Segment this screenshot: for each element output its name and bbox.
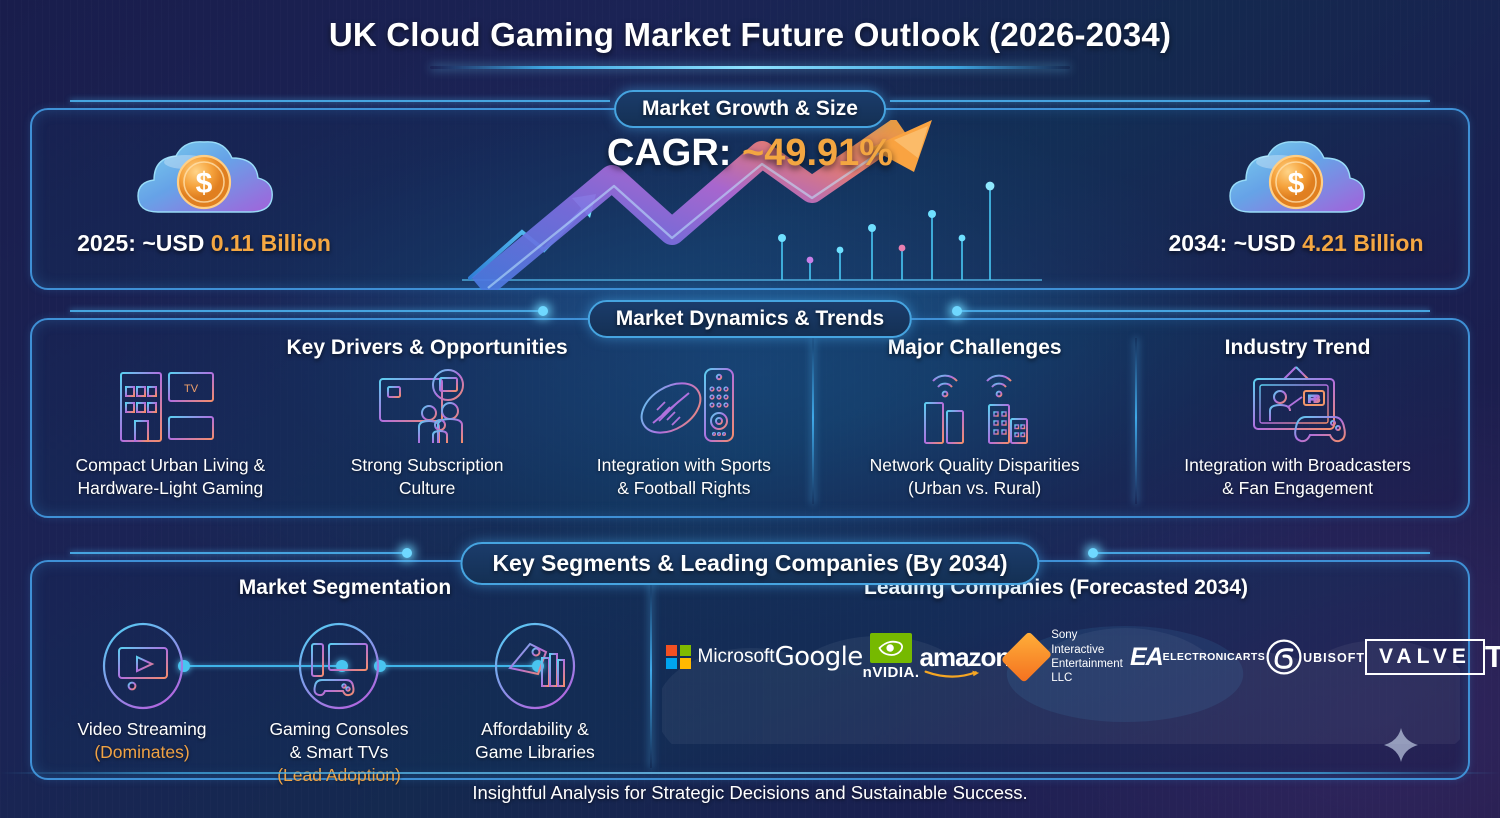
logo-text-line2: Interactive bbox=[1051, 644, 1104, 656]
label-line1: Compact Urban Living & bbox=[76, 455, 266, 475]
badge-connector-right bbox=[890, 100, 1430, 102]
trend-item-broadcasters: FB Integration with Broadcasters & Fan E… bbox=[1137, 334, 1458, 508]
year-2025-amount: 0.11 Billion bbox=[211, 230, 331, 256]
key-segments-badge: Key Segments & Leading Companies (By 203… bbox=[460, 542, 1039, 585]
microsoft-logo: Microsoft bbox=[666, 645, 775, 670]
nvidia-eye-icon bbox=[870, 633, 912, 663]
group-heading: Industry Trend bbox=[1137, 336, 1458, 360]
logo-text: Microsoft bbox=[698, 646, 775, 668]
sony-diamond-icon bbox=[1001, 631, 1053, 683]
badge-dot-left bbox=[402, 548, 412, 558]
title-underline bbox=[430, 66, 1070, 69]
market-size-2034-label: 2034: ~USD 4.21 Billion bbox=[1146, 230, 1446, 257]
cloud-dollar-icon: $ bbox=[1220, 132, 1372, 224]
market-growth-panel: Market Growth & Size $ bbox=[30, 108, 1470, 290]
market-size-2025-label: 2025: ~USD 0.11 Billion bbox=[54, 230, 354, 257]
building-tv-laptop-icon: TV bbox=[115, 363, 225, 448]
year-2034-prefix: 2034: ~USD bbox=[1168, 230, 1302, 256]
label-line1: Integration with Sports bbox=[597, 455, 771, 475]
badge-connector-left bbox=[70, 552, 410, 554]
ubisoft-swirl-icon bbox=[1265, 638, 1303, 676]
badge-connector-left bbox=[70, 310, 545, 312]
challenge-label: Network Quality Disparities (Urban vs. R… bbox=[870, 454, 1080, 500]
amazon-smile-icon bbox=[924, 670, 980, 679]
logo-text: EA bbox=[1130, 643, 1163, 672]
segment-node-video-streaming[interactable] bbox=[102, 622, 184, 710]
footer-divider bbox=[0, 772, 1500, 774]
cagr-value: ~49.91% bbox=[742, 132, 893, 174]
key-segments-panel: Key Segments & Leading Companies (By 203… bbox=[30, 560, 1470, 780]
svg-text:$: $ bbox=[196, 167, 213, 200]
market-size-2025: $ 2025: ~USD 0.11 Billion bbox=[54, 132, 354, 257]
year-2025-prefix: 2025: ~USD bbox=[77, 230, 211, 256]
segment-caption: Affordability & Game Libraries bbox=[390, 718, 680, 764]
cloud-dollar-icon: $ bbox=[128, 132, 280, 224]
badge-connector-right bbox=[1090, 552, 1430, 554]
console-smarttv-icon bbox=[312, 644, 367, 695]
market-size-2034: $ 2034: ~USD 4.21 Billion bbox=[1146, 132, 1446, 257]
dynamics-group-key-drivers: Key Drivers & Opportunities bbox=[42, 334, 812, 508]
svg-text:TV: TV bbox=[184, 383, 199, 395]
amazon-logo: amazon bbox=[920, 642, 1011, 673]
market-growth-badge: Market Growth & Size bbox=[614, 90, 886, 128]
segment-node-affordability[interactable] bbox=[494, 622, 576, 710]
badge-connector-left bbox=[70, 100, 610, 102]
badge-connector-right bbox=[955, 310, 1430, 312]
valve-logo: VALVE bbox=[1365, 639, 1485, 675]
page-title-part1: UK Cloud Gaming Market bbox=[329, 16, 731, 53]
driver-label: Compact Urban Living & Hardware-Light Ga… bbox=[76, 454, 266, 500]
page-title-part2: Future Outlook (2026-2034) bbox=[731, 16, 1171, 53]
label-line2: & Football Rights bbox=[617, 478, 750, 498]
price-tag-books-icon bbox=[508, 644, 564, 688]
label-line2: (Urban vs. Rural) bbox=[908, 478, 1041, 498]
page-title: UK Cloud Gaming Market Future Outlook (2… bbox=[0, 0, 1500, 54]
logo-text: nVIDIA. bbox=[863, 664, 920, 681]
cagr-display: CAGR: ~49.91% bbox=[607, 132, 893, 175]
caption-sub: (Dominates) bbox=[94, 742, 189, 762]
caption-line1: Video Streaming bbox=[77, 719, 206, 739]
ubisoft-logo: UBISOFT bbox=[1265, 638, 1365, 676]
caption-line1: Affordability & bbox=[481, 719, 589, 739]
logo-subtext1: ELECTRONIC bbox=[1163, 651, 1235, 663]
logo-text: UBISOFT bbox=[1303, 651, 1365, 665]
logo-text: amazon bbox=[920, 642, 1011, 672]
label-line2: Hardware-Light Gaming bbox=[77, 478, 263, 498]
segment-node-gaming-consoles[interactable] bbox=[298, 622, 380, 710]
sparkle-icon bbox=[1384, 728, 1418, 762]
badge-dot-right bbox=[1088, 548, 1098, 558]
market-dynamics-panel: Market Dynamics & Trends Key Drivers & O… bbox=[30, 318, 1470, 518]
cagr-label: CAGR: bbox=[607, 132, 742, 174]
football-remote-icon bbox=[629, 363, 739, 448]
tv-broadcast-gamepad-icon: FB bbox=[1238, 363, 1358, 448]
dynamics-group-industry-trend: Industry Trend FB bbox=[1137, 334, 1458, 508]
footer-text: Insightful Analysis for Strategic Decisi… bbox=[0, 782, 1500, 804]
subscription-card-family-icon bbox=[372, 363, 482, 448]
caption-line2: Game Libraries bbox=[475, 742, 595, 762]
year-2034-amount: 4.21 Billion bbox=[1302, 230, 1423, 256]
logo-text: T2 bbox=[1485, 642, 1500, 671]
group-heading: Key Drivers & Opportunities bbox=[42, 336, 812, 360]
take-two-logo: T2 TAKE-TWO INTERACTIVE bbox=[1485, 642, 1500, 671]
nvidia-logo: nVIDIA. bbox=[863, 633, 920, 681]
badge-dot-left bbox=[538, 306, 548, 316]
market-segmentation-block: Market Segmentation bbox=[40, 576, 650, 772]
driver-item-subscription: Strong Subscription Culture bbox=[299, 334, 556, 508]
svg-text:$: $ bbox=[1288, 167, 1305, 200]
market-dynamics-badge: Market Dynamics & Trends bbox=[588, 300, 912, 338]
sony-interactive-logo: Sony Interactive Entertainment LLC bbox=[1010, 628, 1130, 686]
driver-label: Integration with Sports & Football Right… bbox=[597, 454, 771, 500]
driver-item-urban-living: TV Compact Urban Living & Hardware-Light… bbox=[42, 334, 299, 508]
company-logo-row: Microsoft Google nVIDIA. amazon bbox=[652, 626, 1460, 688]
svg-text:FB: FB bbox=[1308, 394, 1320, 404]
logo-subtext2: ARTS bbox=[1235, 651, 1265, 663]
challenge-item-network-quality: Network Quality Disparities (Urban vs. R… bbox=[814, 334, 1135, 508]
google-logo: Google bbox=[775, 642, 863, 672]
leading-companies-block: Leading Companies (Forecasted 2034) bbox=[652, 576, 1460, 772]
trend-label: Integration with Broadcasters & Fan Enga… bbox=[1184, 454, 1411, 500]
label-line1: Network Quality Disparities bbox=[870, 455, 1080, 475]
amazon-wordmark: amazon bbox=[920, 642, 1011, 673]
label-line1: Strong Subscription bbox=[351, 455, 504, 475]
driver-item-sports: Integration with Sports & Football Right… bbox=[555, 334, 812, 508]
logo-text: Sony Interactive Entertainment LLC bbox=[1051, 628, 1130, 686]
logo-text-line1: Sony bbox=[1051, 629, 1077, 641]
city-rural-wifi-icon bbox=[907, 363, 1042, 448]
label-line2: & Fan Engagement bbox=[1222, 478, 1373, 498]
group-heading: Major Challenges bbox=[814, 336, 1135, 360]
driver-label: Strong Subscription Culture bbox=[351, 454, 504, 500]
electronic-arts-logo: EA ELECTRONIC ARTS bbox=[1130, 643, 1265, 672]
caption-line1: Gaming Consoles bbox=[269, 719, 408, 739]
label-line2: Culture bbox=[399, 478, 455, 498]
video-play-icon bbox=[119, 648, 167, 689]
badge-dot-right bbox=[952, 306, 962, 316]
label-line1: Integration with Broadcasters bbox=[1184, 455, 1411, 475]
logo-text-line3: Entertainment LLC bbox=[1051, 658, 1123, 684]
microsoft-squares-icon bbox=[666, 645, 691, 670]
caption-line2: & Smart TVs bbox=[290, 742, 389, 762]
dynamics-group-major-challenges: Major Challenges bbox=[814, 334, 1135, 508]
